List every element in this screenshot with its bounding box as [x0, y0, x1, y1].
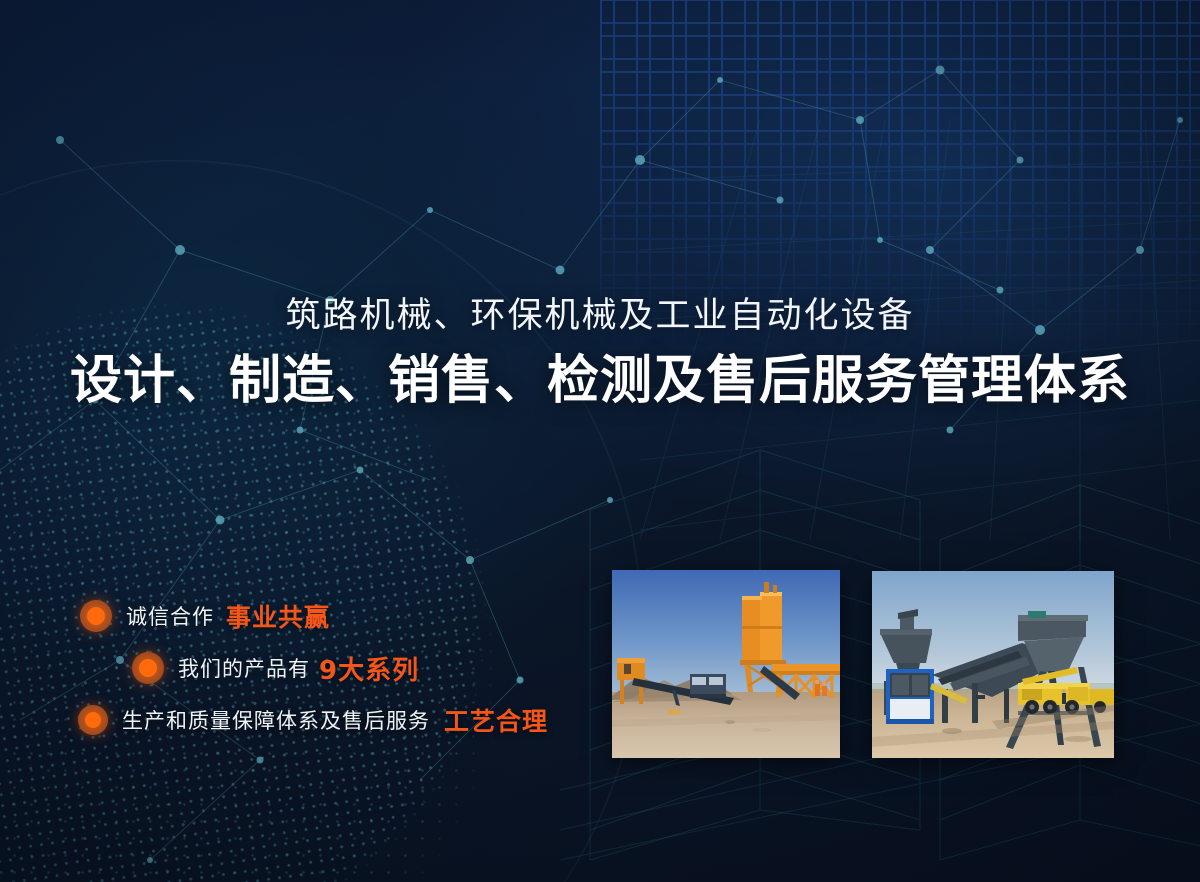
bullet-dot-icon [132, 652, 164, 684]
photo-concrete-batching-plant: 橙色混凝土搅拌站设备现场照片 [612, 570, 840, 758]
feature-item-integrity: 诚信合作事业共赢 [0, 592, 600, 640]
bullet-dot-icon [80, 600, 112, 632]
headline-block: 筑路机械、环保机械及工业自动化设备 设计、制造、销售、检测及售后服务管理体系 [0, 296, 1200, 412]
bullet-dot-icon [78, 705, 108, 735]
feature-label-plain: 诚信合作 [126, 601, 214, 631]
feature-label-plain: 我们的产品有 [178, 653, 310, 683]
feature-text: 生产和质量保障体系及售后服务工艺合理 [122, 702, 548, 738]
globe-ring-outline [0, 160, 642, 882]
dotted-globe-graphic [0, 112, 678, 882]
feature-list: 诚信合作事业共赢 我们的产品有9大系列 生产和质量保障体系及售后服务工艺合理 [0, 592, 600, 748]
photo-mobile-mixing-plant: 移动式搅拌设备及工程车辆现场照片 [872, 571, 1114, 758]
feature-text: 诚信合作事业共赢 [126, 598, 330, 634]
feature-item-product-series: 我们的产品有9大系列 [0, 644, 600, 692]
feature-label-highlight: 9大系列 [319, 650, 419, 687]
dotted-globe-overlay [0, 150, 660, 882]
banner-headline: 设计、制造、销售、检测及售后服务管理体系 [0, 351, 1200, 411]
feature-label-highlight: 事业共赢 [226, 598, 330, 634]
banner-stage: 筑路机械、环保机械及工业自动化设备 设计、制造、销售、检测及售后服务管理体系 诚… [0, 0, 1200, 882]
feature-text: 我们的产品有9大系列 [178, 650, 419, 687]
feature-label-plain: 生产和质量保障体系及售后服务 [122, 705, 430, 735]
banner-subheadline: 筑路机械、环保机械及工业自动化设备 [0, 296, 1200, 337]
feature-label-highlight: 工艺合理 [444, 702, 548, 738]
feature-item-quality-service: 生产和质量保障体系及售后服务工艺合理 [0, 696, 600, 744]
